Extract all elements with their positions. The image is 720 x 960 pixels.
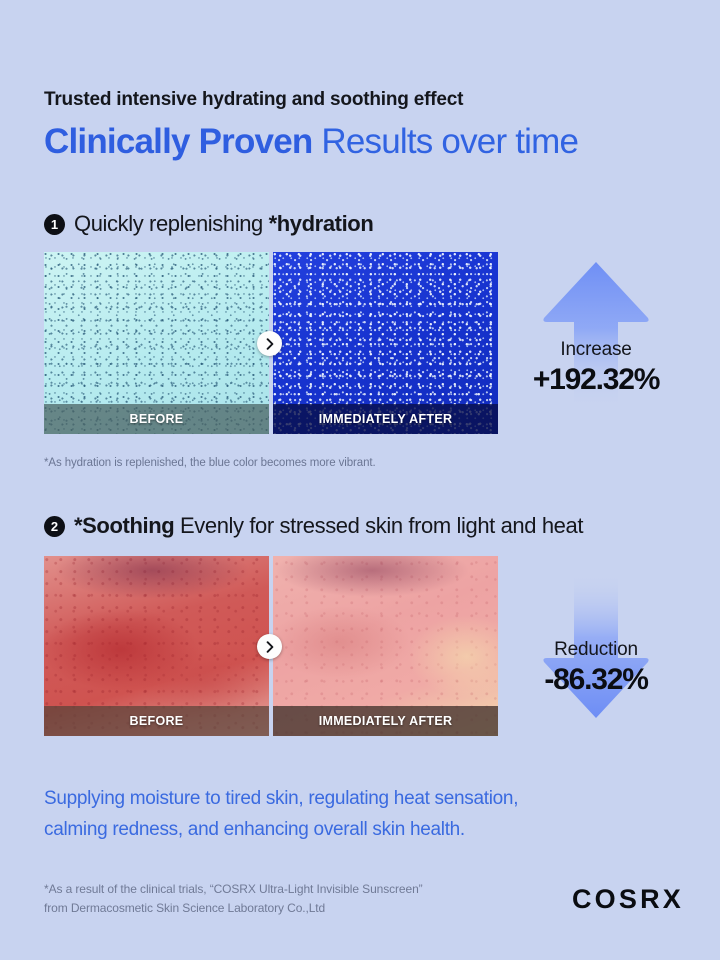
- after-label-hydration: IMMEDIATELY AFTER: [273, 404, 498, 434]
- stat-value-soothing: -86.32%: [496, 663, 696, 698]
- comparison-hydration: BEFORE IMMEDIATELY AFTER: [44, 252, 498, 434]
- stat-label-hydration: Increase: [496, 340, 696, 361]
- header: Trusted intensive hydrating and soothing…: [44, 88, 684, 161]
- section-badge-1: 1: [44, 214, 65, 235]
- section-heading-soothing: 2 *Soothing Evenly for stressed skin fro…: [44, 513, 583, 539]
- section-title-strong-1: *hydration: [269, 211, 374, 236]
- footnote-hydration: *As hydration is replenished, the blue c…: [44, 455, 504, 472]
- section-title-lead-1: Quickly replenishing: [74, 211, 269, 236]
- section-title-tail-2: Evenly for stressed skin from light and …: [174, 513, 583, 538]
- headline-rest: Results over time: [312, 122, 578, 161]
- stat-soothing: Reduction -86.32%: [496, 566, 696, 726]
- after-panel-soothing[interactable]: IMMEDIATELY AFTER: [273, 556, 498, 736]
- summary-text: Supplying moisture to tired skin, regula…: [44, 784, 644, 846]
- disclaimer-line-1: *As a result of the clinical trials, “CO…: [44, 880, 514, 899]
- page-title: Clinically Proven Results over time: [44, 123, 684, 162]
- before-panel-hydration[interactable]: BEFORE: [44, 252, 269, 434]
- section-title-soothing: *Soothing Evenly for stressed skin from …: [74, 513, 583, 539]
- after-panel-hydration[interactable]: IMMEDIATELY AFTER: [273, 252, 498, 434]
- section-heading-hydration: 1 Quickly replenishing *hydration: [44, 211, 373, 237]
- comparison-soothing: BEFORE IMMEDIATELY AFTER: [44, 556, 498, 736]
- infographic-page: Trusted intensive hydrating and soothing…: [0, 0, 720, 960]
- before-panel-soothing[interactable]: BEFORE: [44, 556, 269, 736]
- cosrx-logo: COSRX: [572, 884, 684, 915]
- chevron-right-icon[interactable]: [257, 331, 282, 356]
- summary-line-1: Supplying moisture to tired skin, regula…: [44, 784, 644, 815]
- before-label-hydration: BEFORE: [44, 404, 269, 434]
- kicker-text: Trusted intensive hydrating and soothing…: [44, 88, 684, 113]
- summary-line-2: calming redness, and enhancing overall s…: [44, 815, 644, 846]
- before-label-soothing: BEFORE: [44, 706, 269, 736]
- stat-value-hydration: +192.32%: [496, 363, 696, 398]
- stat-text-soothing: Reduction -86.32%: [496, 640, 696, 697]
- after-label-soothing: IMMEDIATELY AFTER: [273, 706, 498, 736]
- stat-text-hydration: Increase +192.32%: [496, 340, 696, 397]
- disclaimer-line-2: from Dermacosmetic Skin Science Laborato…: [44, 899, 514, 918]
- disclaimer-text: *As a result of the clinical trials, “CO…: [44, 880, 514, 917]
- chevron-right-icon[interactable]: [257, 634, 282, 659]
- section-title-hydration: Quickly replenishing *hydration: [74, 211, 373, 237]
- headline-strong: Clinically Proven: [44, 122, 312, 161]
- stat-label-soothing: Reduction: [496, 640, 696, 661]
- stat-hydration: Increase +192.32%: [496, 256, 696, 416]
- section-badge-2: 2: [44, 516, 65, 537]
- section-title-strong-2: *Soothing: [74, 513, 174, 538]
